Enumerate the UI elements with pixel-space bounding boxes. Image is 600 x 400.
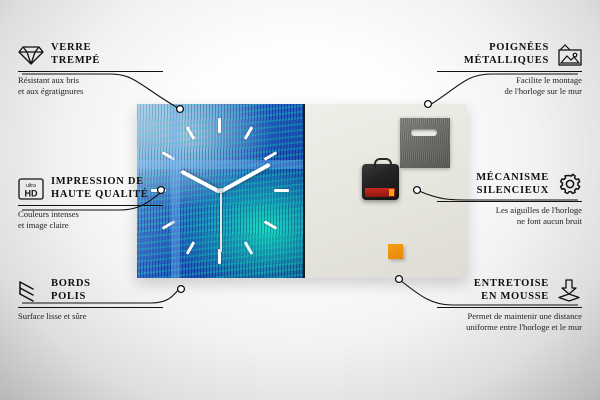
callout-title-line2: SILENCIEUX — [476, 185, 549, 198]
product-image — [137, 104, 467, 278]
callout-rule — [437, 307, 582, 308]
callout-bords-polis: BORDS POLIS Surface lisse et sûre — [18, 278, 163, 322]
svg-text:HD: HD — [25, 188, 38, 198]
infographic-stage: VERRE TREMPÉ Résistant aux bris et aux é… — [0, 0, 600, 400]
callout-title-line1: BORDS — [51, 278, 91, 291]
callout-title-line2: TREMPÉ — [51, 55, 100, 68]
aa-battery — [365, 188, 395, 197]
metal-hanger-plate — [400, 118, 450, 168]
clock-tick — [274, 189, 289, 192]
callout-rule — [18, 71, 163, 72]
callout-rule — [437, 201, 582, 202]
clock-second-hand — [220, 190, 222, 252]
clock-hour-hand — [180, 170, 221, 194]
foam-spacer-icon — [556, 279, 582, 303]
clock-tick — [186, 126, 196, 140]
callout-title-line2: HAUTE QUALITÉ — [51, 189, 149, 202]
callout-sub-line1: Permet de maintenir une distance — [437, 311, 582, 322]
callout-sub-line1: Couleurs intenses — [18, 209, 163, 220]
callout-title-line1: IMPRESSION DE — [51, 176, 149, 189]
clock-tick — [244, 241, 254, 255]
callout-sub-line1: Surface lisse et sûre — [18, 311, 163, 322]
ultra-hd-icon: ultra HD — [18, 178, 44, 200]
clock-tick — [162, 220, 176, 230]
clock-mechanism — [362, 164, 399, 200]
hanger-slot — [411, 129, 437, 136]
callout-mecanisme-silencieux: MÉCANISME SILENCIEUX Les aiguilles de l'… — [437, 172, 582, 227]
callout-title-line1: POIGNÉES — [464, 42, 549, 55]
clock-minute-hand — [219, 163, 271, 194]
polished-edges-icon — [18, 280, 44, 302]
callout-rule — [18, 205, 163, 206]
callout-sub-line1: Facilite le montage — [437, 75, 582, 86]
clock-tick — [218, 118, 221, 133]
callout-poignees-metalliques: POIGNÉES MÉTALLIQUES Facilite le montage… — [437, 42, 582, 97]
foam-spacer — [388, 244, 403, 259]
callout-title-line1: MÉCANISME — [476, 172, 549, 185]
callout-sub-line2: de l'horloge sur le mur — [437, 86, 582, 97]
callout-sub-line1: Les aiguilles de l'horloge — [437, 205, 582, 216]
callout-sub-line2: et image claire — [18, 220, 163, 231]
picture-hanger-icon — [556, 44, 582, 66]
callout-sub-line2: uniforme entre l'horloge et le mur — [437, 322, 582, 333]
callout-title-line2: POLIS — [51, 291, 91, 304]
mechanism-hanging-loop — [374, 158, 392, 169]
diamond-icon — [18, 44, 44, 66]
callout-title-line2: EN MOUSSE — [474, 291, 549, 304]
callout-entretoise-en-mousse: ENTRETOISE EN MOUSSE Permet de maintenir… — [437, 278, 582, 333]
clock-pivot — [218, 188, 223, 193]
clock-tick — [244, 126, 254, 140]
callout-rule — [437, 71, 582, 72]
callout-title-line1: VERRE — [51, 42, 100, 55]
clock-tick — [264, 220, 278, 230]
clock-tick — [162, 151, 176, 161]
callout-sub-line2: ne font aucun bruit — [437, 216, 582, 227]
callout-rule — [18, 307, 163, 308]
clock-tick — [186, 241, 196, 255]
callout-sub-line2: et aux égratignures — [18, 86, 163, 97]
callout-title-line2: MÉTALLIQUES — [464, 55, 549, 68]
clock-tick — [264, 151, 278, 161]
callout-impression-haute-qualite: ultra HD IMPRESSION DE HAUTE QUALITÉ Cou… — [18, 176, 163, 231]
battery-positive-terminal — [389, 189, 394, 196]
callout-title-line1: ENTRETOISE — [474, 278, 549, 291]
gear-icon — [556, 173, 582, 197]
callout-sub-line1: Résistant aux bris — [18, 75, 163, 86]
callout-verre-trempe: VERRE TREMPÉ Résistant aux bris et aux é… — [18, 42, 163, 97]
